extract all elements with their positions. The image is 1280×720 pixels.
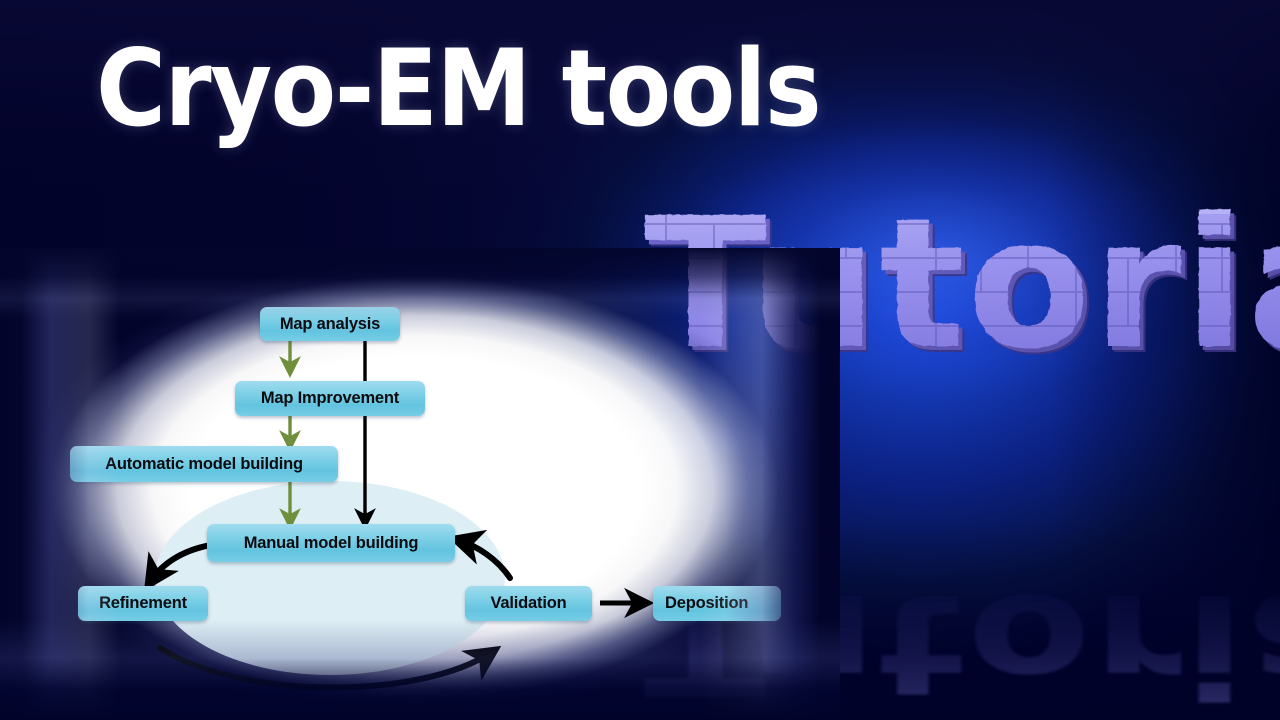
node-deposition[interactable]: Deposition xyxy=(653,586,781,621)
flowchart-region: Map analysis Map Improvement Automatic m… xyxy=(0,248,840,720)
node-refinement[interactable]: Refinement xyxy=(78,586,208,621)
node-refinement-label: Refinement xyxy=(99,594,187,613)
node-automatic-model-building[interactable]: Automatic model building xyxy=(70,446,338,482)
node-map-improvement[interactable]: Map Improvement xyxy=(235,381,425,416)
slide-canvas: Tutorial Tutorial Tutorial Tutorial Tuto… xyxy=(0,0,1280,720)
node-automatic-model-building-label: Automatic model building xyxy=(105,455,303,474)
node-map-improvement-label: Map Improvement xyxy=(261,389,399,408)
node-deposition-label: Deposition xyxy=(665,594,748,613)
cycle-ellipse xyxy=(155,481,505,675)
node-validation-label: Validation xyxy=(491,594,567,613)
node-manual-model-building[interactable]: Manual model building xyxy=(207,524,455,562)
node-manual-model-building-label: Manual model building xyxy=(244,534,419,553)
flowchart-canvas: Map analysis Map Improvement Automatic m… xyxy=(0,248,840,720)
slide-title: Cryo-EM tools xyxy=(96,36,820,142)
node-map-analysis[interactable]: Map analysis xyxy=(260,307,400,341)
node-map-analysis-label: Map analysis xyxy=(280,315,380,334)
node-validation[interactable]: Validation xyxy=(465,586,592,621)
